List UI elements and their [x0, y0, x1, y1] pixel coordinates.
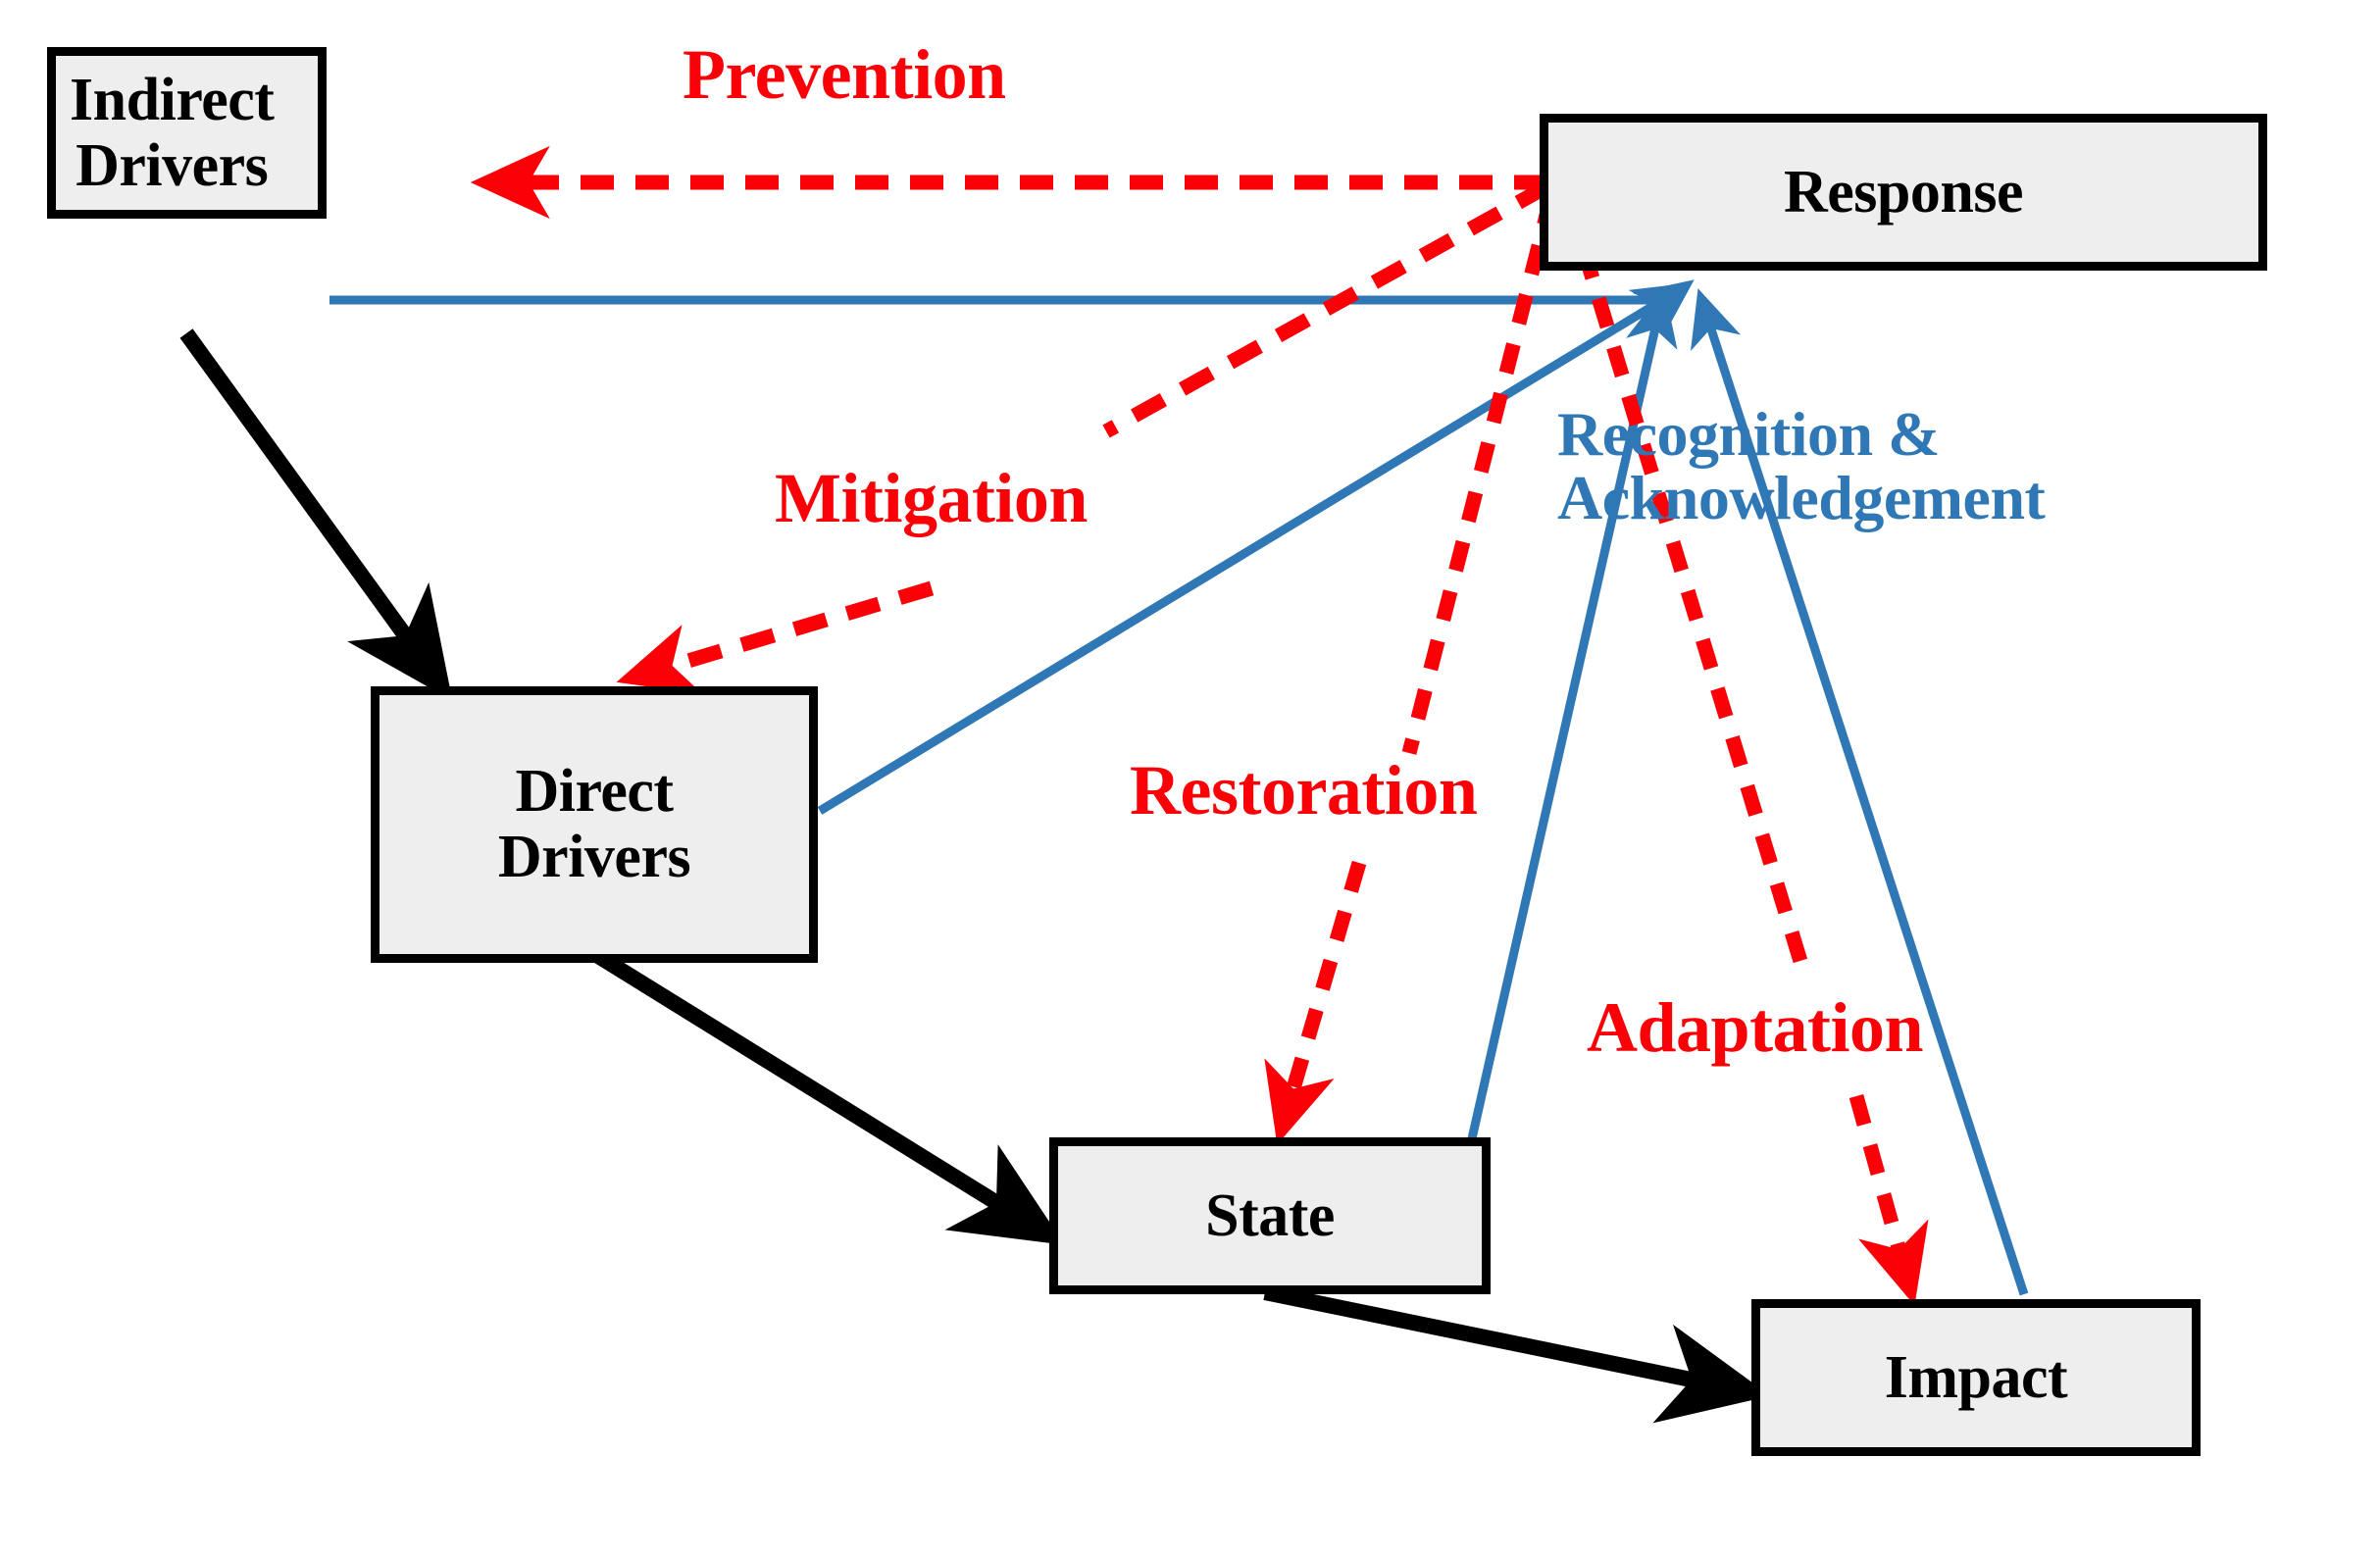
edge-state-to-impact: [1265, 1292, 1744, 1390]
node-impact-label: Impact: [1885, 1345, 2067, 1411]
edge-response-to-direct-mitigation: [635, 186, 1547, 677]
edge-response-to-impact-adaptation: [1569, 201, 1909, 1286]
node-indirect-drivers-label: Indirect Drivers: [70, 68, 274, 199]
node-response[interactable]: Response: [1540, 114, 2267, 271]
node-direct-drivers-label: Direct Drivers: [498, 759, 690, 890]
edge-indirect-to-response: [329, 288, 1683, 300]
node-state[interactable]: State: [1049, 1137, 1491, 1294]
diagram-canvas: Indirect Drivers Direct Drivers Response…: [0, 0, 2380, 1558]
node-indirect-drivers[interactable]: Indirect Drivers: [47, 47, 327, 219]
edge-label-recognition-acknowledgement: Recognition & Acknowledgement: [1557, 402, 2045, 530]
edge-indirect-to-direct: [186, 333, 436, 678]
node-impact[interactable]: Impact: [1751, 1299, 2201, 1456]
edge-direct-to-response: [820, 290, 1679, 811]
edge-label-mitigation: Mitigation: [775, 463, 1088, 534]
node-direct-drivers[interactable]: Direct Drivers: [371, 686, 818, 963]
edge-response-to-state-restoration: [1283, 196, 1551, 1126]
node-response-label: Response: [1784, 160, 2023, 226]
edge-label-adaptation: Adaptation: [1587, 992, 1923, 1064]
edge-label-restoration: Restoration: [1130, 755, 1477, 827]
edge-direct-to-state: [598, 956, 1041, 1231]
edge-label-prevention: Prevention: [683, 39, 1006, 111]
node-state-label: State: [1205, 1183, 1335, 1249]
